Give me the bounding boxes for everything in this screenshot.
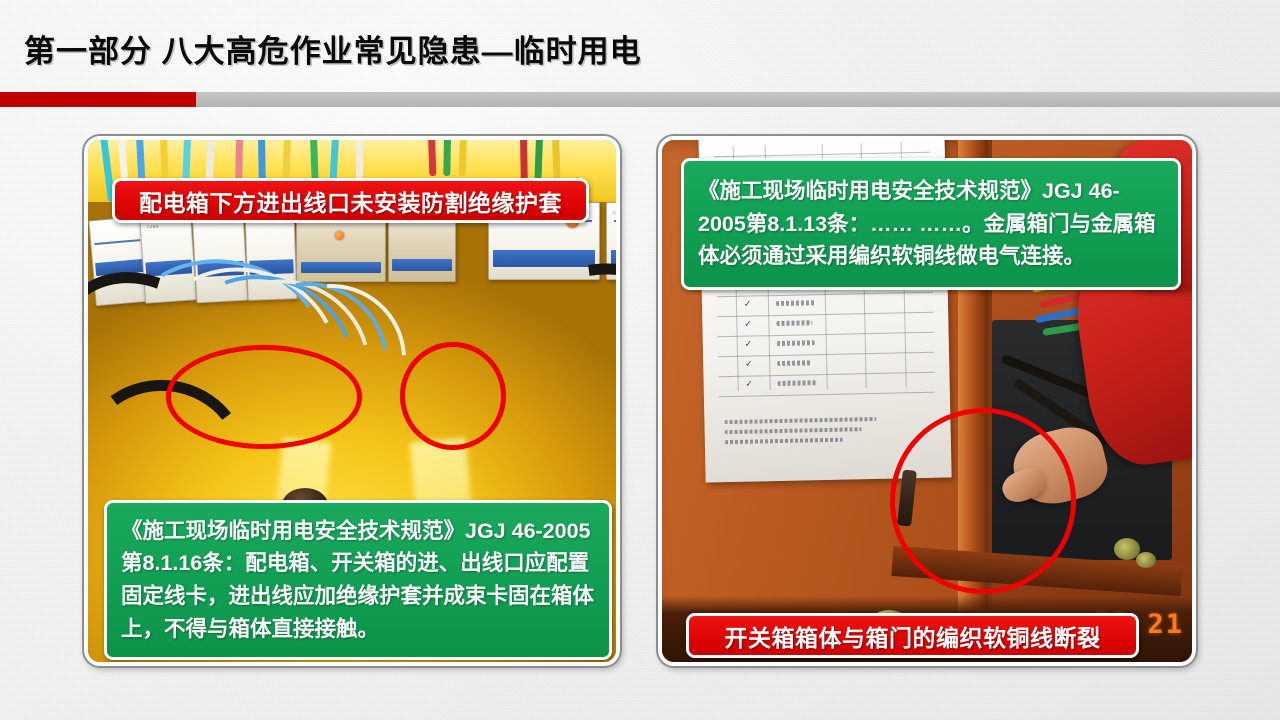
marker-circle-broken-bond <box>890 408 1076 594</box>
wire-red-1 <box>428 140 436 176</box>
breaker-2-label: C45N <box>147 224 159 230</box>
callout-right-red-text: 开关箱箱体与箱门的编织软铜线断裂 <box>689 619 1136 653</box>
wire-yellow-3 <box>459 140 467 176</box>
wire-red-2 <box>520 140 528 180</box>
checkmark: ✓ <box>744 300 752 309</box>
breaker-center-indicator <box>335 231 344 240</box>
marker-ellipse-right <box>400 342 506 450</box>
sheet-footnote <box>724 438 842 444</box>
breaker-1-line <box>94 239 140 245</box>
sheet-footnote <box>724 417 877 424</box>
wire-green-2 <box>443 140 451 176</box>
handwriting <box>777 340 815 346</box>
breaker-rc-strip <box>392 259 453 271</box>
breaker-center-strip <box>301 262 382 273</box>
handwriting <box>777 380 817 386</box>
callout-left-red-text: 配电箱下方进出线口未安装防割绝缘护套 <box>115 184 586 218</box>
breaker-rcd-1-strip <box>493 250 594 267</box>
breaker-rcd-2-line <box>614 220 616 222</box>
callout-right-green-text: 《施工现场临时用电安全技术规范》JGJ 46-2005第8.1.13条：…… …… <box>684 171 1178 277</box>
callout-right-red[interactable]: 开关箱箱体与箱门的编织软铜线断裂 <box>686 613 1139 658</box>
divider-track <box>196 92 1280 107</box>
handwriting <box>776 320 812 326</box>
callout-left-green[interactable]: 《施工现场临时用电安全技术规范》JGJ 46-2005第8.1.16条：配电箱、… <box>104 500 612 660</box>
page-title: 第一部分 八大高危作业常见隐患—临时用电 <box>24 26 642 71</box>
breaker-rcd-2-brand: CHNT <box>613 210 616 215</box>
checkmark: ✓ <box>744 320 752 329</box>
photo-panel-right[interactable]: ✓ ✓ ✓ ✓ ✓ ✓ ✓ ✓ ✓ ✓ ✓ ✓ <box>658 136 1196 666</box>
handwriting <box>776 300 816 306</box>
marker-ellipse-left <box>166 345 362 449</box>
checkmark: ✓ <box>745 380 753 389</box>
divider-accent-segment <box>0 92 196 107</box>
checkmark: ✓ <box>745 360 753 369</box>
sheet-row-line <box>719 392 935 398</box>
weed-clump-2 <box>1136 552 1156 568</box>
handwriting <box>777 360 811 366</box>
callout-right-green[interactable]: 《施工现场临时用电安全技术规范》JGJ 46-2005第8.1.13条：…… …… <box>681 158 1181 290</box>
sheet-footnote <box>724 427 862 434</box>
checkmark: ✓ <box>745 340 753 349</box>
photo-panel-left[interactable]: C45N CHNT CHNT <box>84 136 620 666</box>
header-divider <box>0 92 1280 107</box>
callout-left-red[interactable]: 配电箱下方进出线口未安装防割绝缘护套 <box>112 178 589 223</box>
wire-yellow-4 <box>552 140 561 180</box>
callout-left-green-text: 《施工现场临时用电安全技术规范》JGJ 46-2005第8.1.16条：配电箱、… <box>107 511 609 650</box>
